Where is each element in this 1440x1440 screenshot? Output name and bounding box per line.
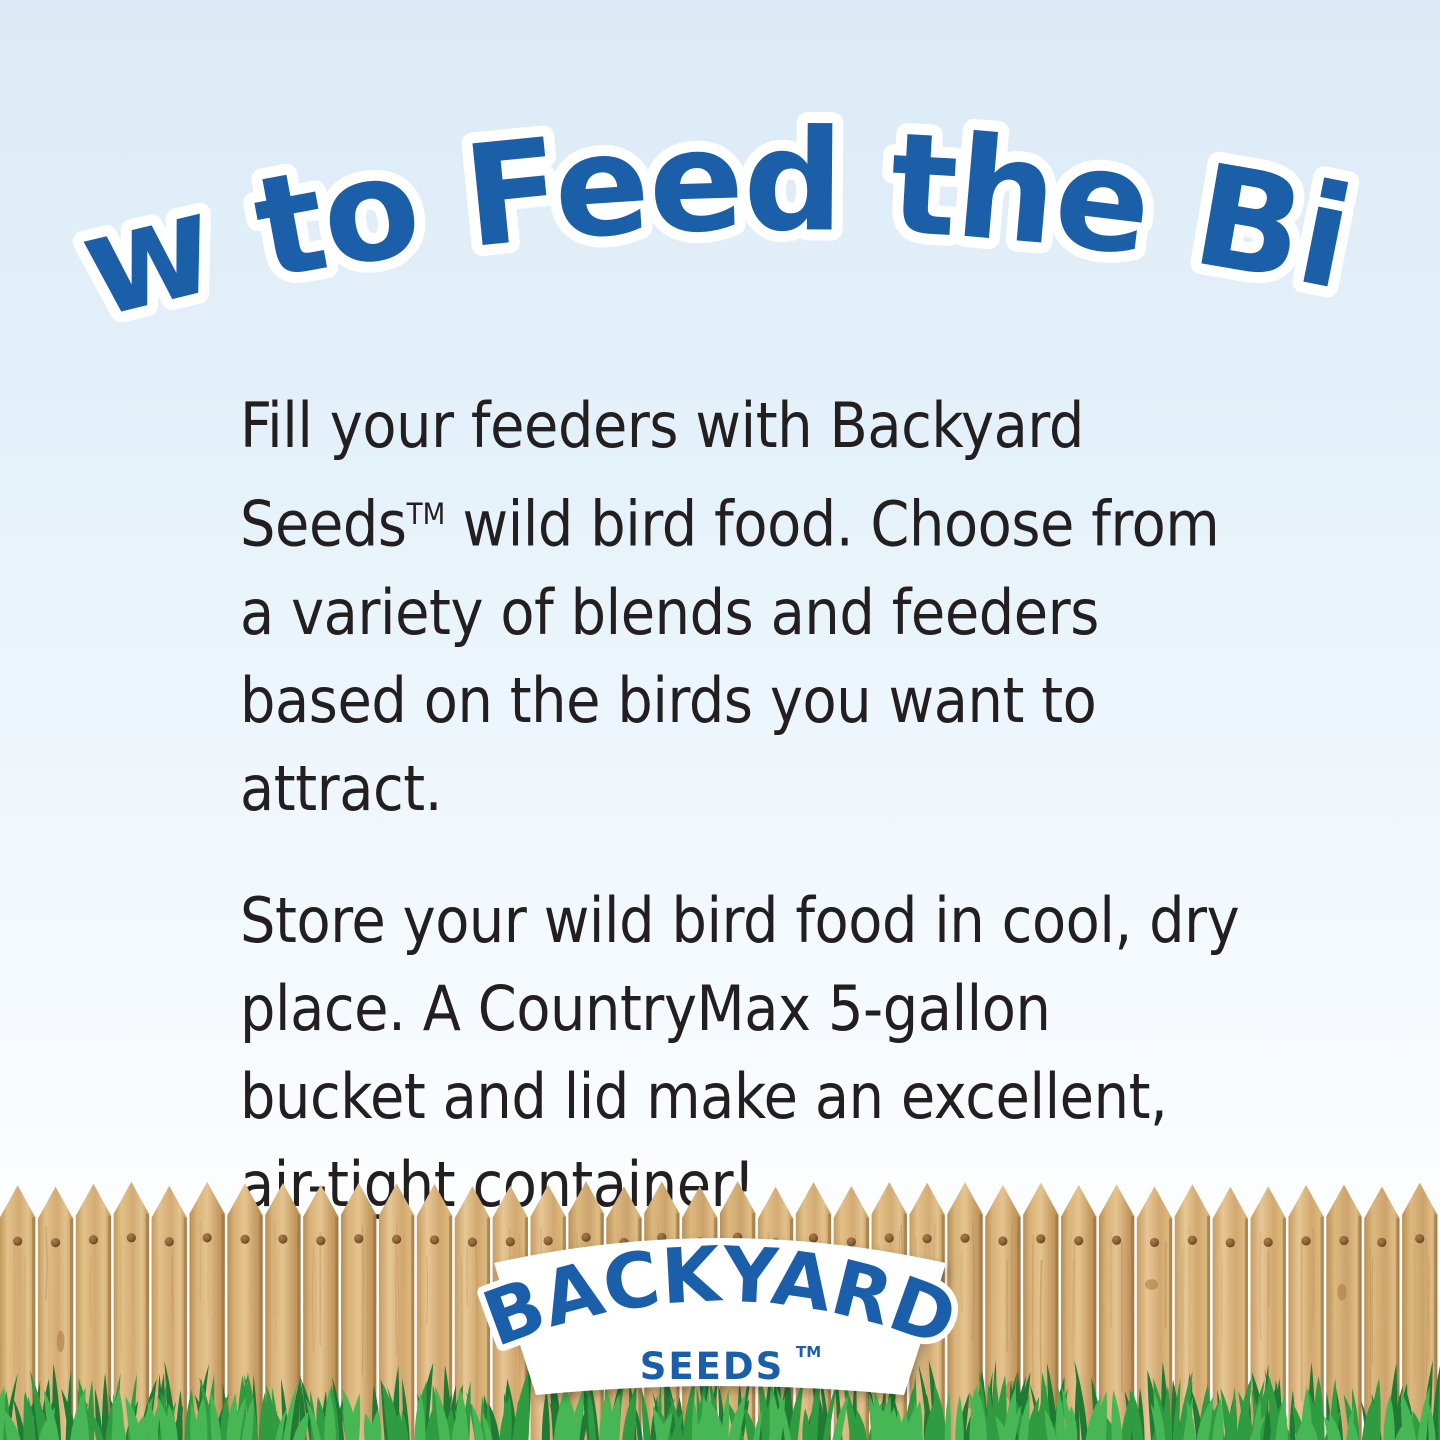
fence-nail: [316, 1236, 325, 1245]
fence-nail: [165, 1237, 174, 1246]
fence-nail: [430, 1235, 439, 1244]
logo-trademark: TM: [796, 1343, 821, 1361]
fence-nail: [1150, 1238, 1159, 1247]
fence-nail: [278, 1234, 287, 1243]
wood-knot: [1145, 1279, 1158, 1290]
wood-grain: [208, 1232, 209, 1316]
grass-blade: [1111, 1390, 1122, 1440]
fence-nail: [998, 1236, 1007, 1245]
fence-nail: [203, 1233, 212, 1242]
wood-grain: [257, 1249, 258, 1301]
fence-nail: [1377, 1238, 1386, 1247]
wood-grain: [133, 1240, 134, 1331]
fence-nail: [1188, 1236, 1197, 1245]
page-title: How to Feed the Birds How to Feed the Bi…: [0, 92, 1440, 322]
title-shadow-text: How to Feed the Birds: [0, 92, 1370, 322]
poster-canvas: How to Feed the Birds How to Feed the Bi…: [0, 0, 1440, 1440]
backyard-seeds-logo: BACKYARD BACKYARD SEEDS TM: [472, 1227, 968, 1409]
fence-nail: [392, 1235, 401, 1244]
paragraph-1: Fill your feeders with Backyard SeedsTM …: [240, 382, 1250, 833]
title-svg: How to Feed the Birds How to Feed the Bi…: [0, 92, 1440, 322]
title-fill-text: How to Feed the Birds: [0, 92, 1362, 322]
fence-nail: [1112, 1236, 1121, 1245]
fence-nail: [13, 1237, 22, 1246]
fence-nail: [127, 1233, 136, 1242]
fence-nail: [1415, 1234, 1424, 1243]
fence-nail: [1339, 1236, 1348, 1245]
fence-nail: [1226, 1238, 1235, 1247]
fence-nail: [1036, 1234, 1045, 1243]
fence-nail: [51, 1238, 60, 1247]
wood-grain: [275, 1222, 276, 1350]
title-outline-text: How to Feed the Birds: [0, 92, 1362, 322]
wood-knot: [1337, 1284, 1346, 1301]
paragraph-2: Store your wild bird food in cool, dry p…: [240, 877, 1250, 1229]
logo-svg: BACKYARD BACKYARD SEEDS TM: [472, 1227, 968, 1409]
wood-grain: [1313, 1229, 1314, 1327]
grass-blade: [855, 1410, 867, 1440]
logo-subtitle: SEEDS: [640, 1345, 785, 1388]
fence-nail: [240, 1235, 249, 1244]
fence-nail: [354, 1234, 363, 1243]
trademark-symbol: TM: [407, 497, 446, 531]
fence-nail: [89, 1235, 98, 1244]
fence-nail: [1301, 1236, 1310, 1245]
fence-nail: [1074, 1236, 1083, 1245]
fence-nail: [1264, 1238, 1273, 1247]
body-copy: Fill your feeders with Backyard SeedsTM …: [240, 382, 1250, 1229]
